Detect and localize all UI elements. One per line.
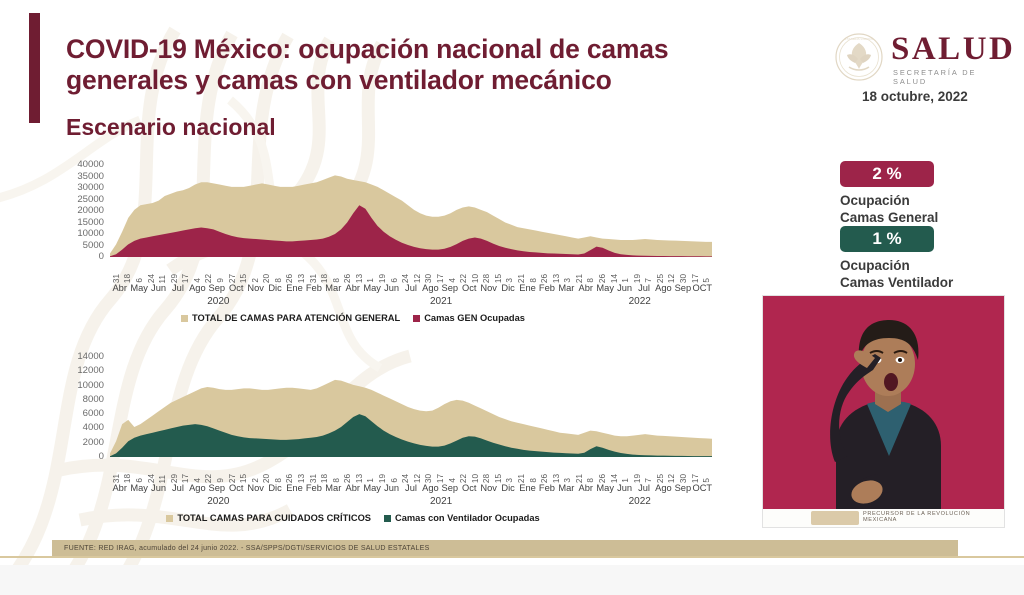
x-month-tick: OCT	[692, 284, 712, 293]
title-accent-bar	[29, 13, 40, 123]
legend-label: Camas con Ventilador Ocupadas	[395, 513, 540, 523]
svg-text:ESTADOS UNIDOS: ESTADOS UNIDOS	[845, 37, 874, 41]
x-day-tick: 12	[668, 274, 676, 283]
x-day-tick: 11	[159, 275, 167, 284]
x-month-tick: May	[363, 484, 381, 493]
legend-swatch	[384, 515, 391, 522]
sign-language-interpreter-video[interactable]: PRECURSOR DE LA REVOLUCIÓN MEXICANA	[762, 295, 1005, 528]
x-month-tick: Oct	[229, 284, 243, 293]
x-day-tick: 20	[263, 274, 271, 283]
x-day-tick: 15	[240, 474, 248, 483]
kpi-caption-line2: Camas Ventilador	[840, 274, 990, 291]
x-month-tick: Abr	[579, 284, 593, 293]
x-month-tick: Jun	[151, 484, 166, 493]
x-day-tick: 15	[495, 274, 503, 283]
x-day-tick: 26	[541, 274, 549, 283]
banknote-graphic	[811, 511, 859, 525]
chart2-day-ticks: 3118624112917422927152208261331188261311…	[110, 457, 712, 483]
x-month-tick: Nov	[247, 284, 264, 293]
y-tick-label: 40000	[77, 160, 104, 170]
slide-canvas: COVID-19 México: ocupación nacional de c…	[0, 0, 1024, 565]
legend-label: TOTAL DE CAMAS PARA ATENCIÓN GENERAL	[192, 313, 400, 323]
x-day-tick: 22	[460, 474, 468, 483]
x-day-tick: 19	[379, 474, 387, 483]
x-month-tick: Ago	[422, 484, 439, 493]
x-month-tick: Sep	[675, 484, 692, 493]
kpi-badge-camas-ventilador: 1 %	[840, 226, 934, 252]
x-day-tick: 19	[379, 274, 387, 283]
x-day-tick: 13	[553, 474, 561, 483]
x-day-tick: 26	[286, 274, 294, 283]
x-day-tick: 12	[414, 274, 422, 283]
bottom-rule	[0, 556, 1024, 558]
x-day-tick: 15	[240, 274, 248, 283]
x-month-tick: May	[130, 284, 148, 293]
x-day-tick: 13	[553, 274, 561, 283]
x-month-tick: Jul	[172, 284, 184, 293]
x-month-tick: Feb	[306, 284, 322, 293]
x-month-tick: May	[596, 484, 614, 493]
x-day-tick: 30	[425, 274, 433, 283]
x-month-tick: Dic	[501, 284, 514, 293]
area-series-group	[110, 165, 712, 257]
x-day-tick: 19	[634, 274, 642, 283]
chart1-month-ticks: AbrMayJunJulAgoSepOctNovDicEneFebMarAbrM…	[110, 284, 712, 298]
x-day-tick: 31	[310, 274, 318, 283]
x-month-tick: Jul	[638, 484, 650, 493]
x-day-tick: 24	[402, 274, 410, 283]
chart1-year-ticks: 202020212022	[110, 297, 712, 311]
legend-swatch	[413, 315, 420, 322]
x-month-tick: Mar	[325, 484, 341, 493]
x-day-tick: 31	[113, 274, 121, 283]
x-day-tick: 27	[229, 474, 237, 483]
x-day-tick: 26	[344, 474, 352, 483]
footer-bar: FUENTE: RED IRAG, acumulado del 24 junio…	[52, 540, 958, 556]
interpreter-figure	[763, 296, 1005, 528]
x-month-tick: Ago	[189, 484, 206, 493]
x-month-tick: OCT	[692, 484, 712, 493]
x-day-tick: 14	[611, 274, 619, 283]
x-month-tick: Ene	[286, 484, 303, 493]
x-month-tick: Sep	[442, 484, 459, 493]
x-day-tick: 22	[460, 274, 468, 283]
x-day-tick: 13	[298, 474, 306, 483]
x-month-tick: Jun	[384, 284, 399, 293]
salud-wordmark: SALUD	[891, 33, 1015, 66]
x-day-tick: 17	[437, 474, 445, 483]
legend-label: TOTAL CAMAS PARA CUIDADOS CRÍTICOS	[177, 513, 371, 523]
chart2-y-axis: 14000120001000080006000400020000	[52, 357, 104, 457]
x-day-tick: 26	[286, 474, 294, 483]
x-month-tick: Mar	[558, 484, 574, 493]
x-day-tick: 30	[680, 274, 688, 283]
y-tick-label: 20000	[77, 206, 104, 216]
kpi-caption-camas-ventilador: Ocupación Camas Ventilador	[840, 257, 990, 292]
legend-swatch	[166, 515, 173, 522]
x-month-tick: Oct	[462, 284, 476, 293]
video-lower-third: PRECURSOR DE LA REVOLUCIÓN MEXICANA	[763, 509, 1004, 527]
x-month-tick: Abr	[112, 284, 126, 293]
x-day-tick: 31	[310, 474, 318, 483]
video-lower-third-text: PRECURSOR DE LA REVOLUCIÓN MEXICANA	[863, 511, 1004, 523]
x-day-tick: 29	[171, 274, 179, 283]
chart-camas-generales: 4000035000300002500020000150001000050000…	[52, 165, 712, 315]
x-month-tick: Sep	[209, 284, 226, 293]
slide-date: 18 octubre, 2022	[862, 89, 968, 104]
x-month-tick: Sep	[442, 284, 459, 293]
x-month-tick: Nov	[247, 484, 264, 493]
chart-camas-ventilador: 14000120001000080006000400020000 3118624…	[52, 357, 712, 520]
x-year-tick: 2021	[430, 497, 452, 507]
x-month-tick: Ene	[286, 284, 303, 293]
x-day-tick: 10	[472, 474, 480, 483]
y-tick-label: 5000	[83, 241, 104, 251]
page-subtitle: Escenario nacional	[66, 114, 276, 141]
y-tick-label: 25000	[77, 195, 104, 205]
x-day-tick: 28	[483, 274, 491, 283]
x-day-tick: 26	[344, 274, 352, 283]
chart1-day-ticks: 3118624112917422927152208261331188261311…	[110, 257, 712, 283]
x-day-tick: 19	[634, 474, 642, 483]
x-year-tick: 2022	[629, 297, 651, 307]
kpi-caption-line1: Ocupación	[840, 257, 990, 274]
x-day-tick: 17	[182, 274, 190, 283]
x-month-tick: Oct	[462, 484, 476, 493]
x-day-tick: 26	[599, 474, 607, 483]
chart2-year-ticks: 202020212022	[110, 497, 712, 511]
x-day-tick: 13	[356, 474, 364, 483]
x-month-tick: Ago	[189, 284, 206, 293]
salud-wordmark-subtitle: SECRETARÍA DE SALUD	[893, 68, 1003, 86]
x-month-tick: May	[363, 284, 381, 293]
y-tick-label: 4000	[83, 424, 104, 434]
x-day-tick: 17	[182, 474, 190, 483]
x-day-tick: 18	[124, 474, 132, 483]
legend-item: Camas con Ventilador Ocupadas	[384, 513, 540, 523]
x-month-tick: Dic	[268, 484, 281, 493]
x-day-tick: 25	[657, 274, 665, 283]
y-tick-label: 2000	[83, 438, 104, 448]
x-month-tick: Ago	[655, 484, 672, 493]
x-year-tick: 2020	[207, 297, 229, 307]
kpi-caption-line2: Camas General	[840, 209, 990, 226]
x-day-tick: 18	[321, 274, 329, 283]
x-day-tick: 24	[148, 274, 156, 283]
kpi-caption-camas-general: Ocupación Camas General	[840, 192, 990, 227]
x-month-tick: Jul	[172, 484, 184, 493]
x-day-tick: 17	[692, 274, 700, 283]
x-month-tick: Mar	[325, 284, 341, 293]
y-tick-label: 30000	[77, 183, 104, 193]
chart1-legend: TOTAL DE CAMAS PARA ATENCIÓN GENERALCama…	[52, 313, 654, 323]
x-month-tick: Ago	[655, 284, 672, 293]
chart2-month-ticks: AbrMayJunJulAgoSepOctNovDicEneFebMarAbrM…	[110, 484, 712, 498]
kpi-badge-camas-general: 2 %	[840, 161, 934, 187]
x-day-tick: 12	[414, 474, 422, 483]
x-month-tick: Jul	[405, 484, 417, 493]
x-month-tick: Abr	[112, 484, 126, 493]
y-tick-label: 0	[99, 452, 104, 462]
legend-label: Camas GEN Ocupadas	[424, 313, 525, 323]
x-day-tick: 31	[113, 474, 121, 483]
x-day-tick: 22	[205, 274, 213, 283]
x-day-tick: 21	[576, 474, 584, 483]
legend-swatch	[181, 315, 188, 322]
x-day-tick: 18	[321, 474, 329, 483]
salud-logo: ESTADOS UNIDOS SALUD SECRETARÍA DE SALUD	[833, 33, 1003, 83]
x-day-tick: 29	[171, 474, 179, 483]
x-day-tick: 14	[611, 474, 619, 483]
x-day-tick: 21	[576, 274, 584, 283]
x-day-tick: 18	[124, 274, 132, 283]
x-day-tick: 12	[668, 474, 676, 483]
x-month-tick: Abr	[346, 284, 360, 293]
x-month-tick: Sep	[209, 484, 226, 493]
x-year-tick: 2022	[629, 497, 651, 507]
x-day-tick: 13	[356, 274, 364, 283]
x-month-tick: Dic	[501, 484, 514, 493]
x-month-tick: Abr	[346, 484, 360, 493]
x-month-tick: Ene	[519, 284, 536, 293]
x-day-tick: 13	[298, 274, 306, 283]
x-day-tick: 21	[518, 474, 526, 483]
x-day-tick: 20	[263, 474, 271, 483]
x-month-tick: Sep	[675, 284, 692, 293]
mexico-coat-of-arms-icon: ESTADOS UNIDOS	[833, 33, 885, 81]
x-day-tick: 17	[437, 274, 445, 283]
chart1-y-axis: 4000035000300002500020000150001000050000	[52, 165, 104, 257]
x-month-tick: Nov	[480, 484, 497, 493]
x-month-tick: Jun	[151, 284, 166, 293]
x-month-tick: Oct	[229, 484, 243, 493]
x-day-tick: 24	[148, 474, 156, 483]
x-month-tick: Nov	[480, 284, 497, 293]
x-month-tick: Jun	[384, 484, 399, 493]
x-month-tick: Abr	[579, 484, 593, 493]
y-tick-label: 14000	[77, 352, 104, 362]
kpi-caption-line1: Ocupación	[840, 192, 990, 209]
y-tick-label: 35000	[77, 172, 104, 182]
x-day-tick: 25	[657, 474, 665, 483]
y-tick-label: 10000	[77, 229, 104, 239]
page-title: COVID-19 México: ocupación nacional de c…	[66, 34, 706, 96]
x-day-tick: 21	[518, 274, 526, 283]
chart2-legend: TOTAL CAMAS PARA CUIDADOS CRÍTICOSCamas …	[52, 513, 654, 523]
y-tick-label: 0	[99, 252, 104, 262]
legend-item: TOTAL CAMAS PARA CUIDADOS CRÍTICOS	[166, 513, 371, 523]
x-day-tick: 24	[402, 474, 410, 483]
x-day-tick: 28	[483, 474, 491, 483]
x-day-tick: 15	[495, 474, 503, 483]
legend-item: TOTAL DE CAMAS PARA ATENCIÓN GENERAL	[181, 313, 400, 323]
x-day-tick: 26	[599, 274, 607, 283]
y-tick-label: 10000	[77, 381, 104, 391]
area-series-group	[110, 357, 712, 457]
x-month-tick: Jul	[638, 284, 650, 293]
x-year-tick: 2020	[207, 497, 229, 507]
chart1-plot	[110, 165, 712, 257]
x-day-tick: 30	[425, 474, 433, 483]
x-month-tick: Ene	[519, 484, 536, 493]
y-tick-label: 12000	[77, 366, 104, 376]
x-month-tick: Jul	[405, 284, 417, 293]
y-tick-label: 8000	[83, 395, 104, 405]
x-day-tick: 10	[472, 274, 480, 283]
x-day-tick: 30	[680, 474, 688, 483]
y-tick-label: 15000	[77, 218, 104, 228]
x-month-tick: May	[130, 484, 148, 493]
x-month-tick: Ago	[422, 284, 439, 293]
x-month-tick: Feb	[306, 484, 322, 493]
footer-source-text: FUENTE: RED IRAG, acumulado del 24 junio…	[64, 544, 430, 552]
x-month-tick: Mar	[558, 284, 574, 293]
x-month-tick: Jun	[617, 484, 632, 493]
x-month-tick: Dic	[268, 284, 281, 293]
x-day-tick: 22	[205, 474, 213, 483]
x-month-tick: Jun	[617, 284, 632, 293]
chart2-plot	[110, 357, 712, 457]
x-day-tick: 26	[541, 474, 549, 483]
legend-item: Camas GEN Ocupadas	[413, 313, 525, 323]
x-day-tick: 17	[692, 474, 700, 483]
x-day-tick: 27	[229, 274, 237, 283]
x-year-tick: 2021	[430, 297, 452, 307]
x-day-tick: 11	[159, 475, 167, 484]
x-month-tick: Feb	[539, 284, 555, 293]
x-month-tick: Feb	[539, 484, 555, 493]
y-tick-label: 6000	[83, 409, 104, 419]
x-month-tick: May	[596, 284, 614, 293]
